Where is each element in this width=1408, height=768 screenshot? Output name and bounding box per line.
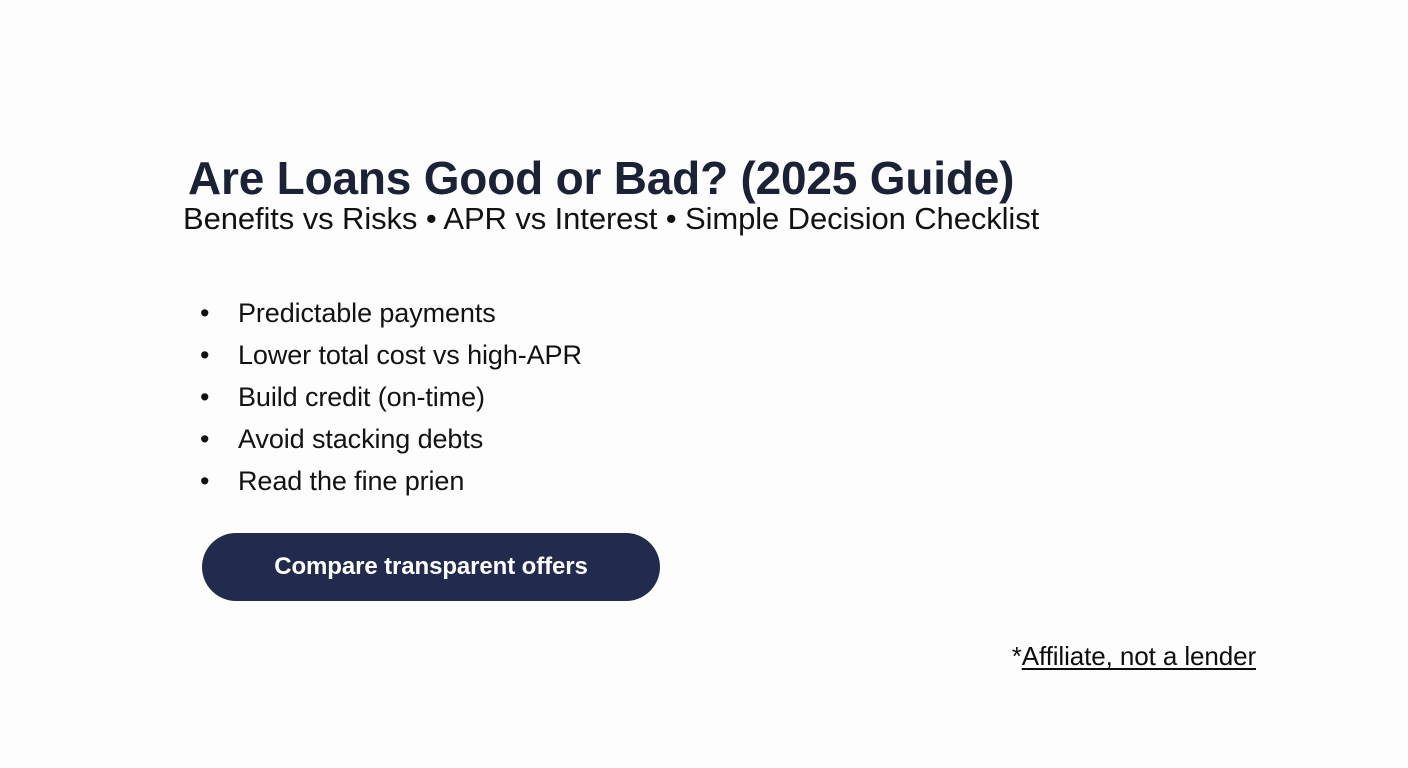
affiliate-disclaimer-text: Affiliate, not a lender (1022, 641, 1256, 671)
list-item-label: Lower total cost vs high-APR (238, 334, 582, 376)
bullet-point-icon: • (200, 460, 238, 502)
list-item: • Read the fine prien (200, 460, 582, 502)
affiliate-disclaimer: *Affiliate, not a lender (1012, 641, 1256, 672)
list-item-label: Avoid stacking debts (238, 418, 483, 460)
compare-offers-button[interactable]: Compare transparent offers (202, 533, 660, 601)
bullet-point-icon: • (200, 292, 238, 334)
list-item: • Avoid stacking debts (200, 418, 582, 460)
slide-canvas: Are Loans Good or Bad? (2025 Guide) Bene… (0, 0, 1408, 768)
page-title: Are Loans Good or Bad? (2025 Guide) (188, 153, 1248, 205)
asterisk-marker: * (1012, 641, 1022, 671)
bullet-point-icon: • (200, 334, 238, 376)
list-item-label: Build credit (on-time) (238, 376, 485, 418)
list-item: • Build credit (on-time) (200, 376, 582, 418)
list-item-label: Read the fine prien (238, 460, 464, 502)
page-subtitle: Benefits vs Risks • APR vs Interest • Si… (183, 200, 1283, 237)
list-item: • Lower total cost vs high-APR (200, 334, 582, 376)
benefits-list: • Predictable payments • Lower total cos… (200, 292, 582, 502)
bullet-point-icon: • (200, 418, 238, 460)
bullet-point-icon: • (200, 376, 238, 418)
list-item: • Predictable payments (200, 292, 582, 334)
list-item-label: Predictable payments (238, 292, 496, 334)
